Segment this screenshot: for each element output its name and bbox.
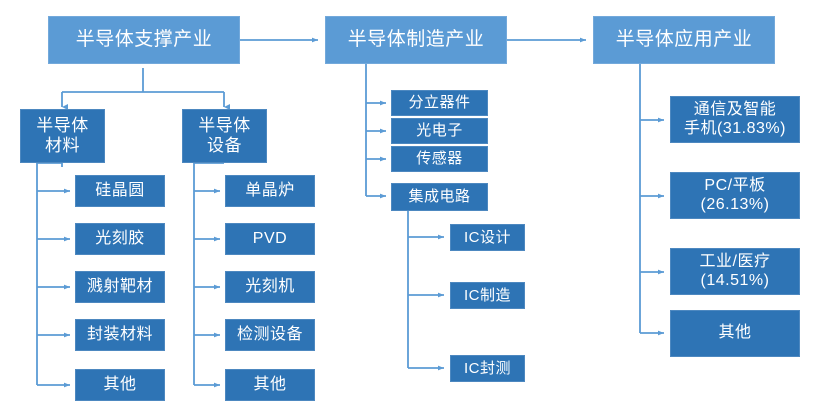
node-label: IC封测	[462, 360, 513, 378]
node-label: 溅射靶材	[85, 278, 155, 297]
node-label: 光刻胶	[93, 230, 147, 249]
node-ic-manufacturing[interactable]: IC制造	[450, 282, 525, 309]
node-equipment-pvd[interactable]: PVD	[225, 223, 315, 255]
node-manufacturing-optoelectronics[interactable]: 光电子	[391, 118, 488, 144]
node-equipment-crystal-furnace[interactable]: 单晶炉	[225, 175, 315, 207]
node-label: 半导体应用产业	[614, 29, 755, 51]
node-ic-design[interactable]: IC设计	[450, 224, 525, 251]
node-label: 半导体支撑产业	[74, 29, 215, 51]
node-equipment-inspection-equipment[interactable]: 检测设备	[225, 319, 315, 351]
node-label: 其他	[716, 324, 753, 343]
node-label: 硅晶圆	[93, 182, 147, 201]
node-label: 分立器件	[406, 94, 472, 112]
node-application-communication-smartphone[interactable]: 通信及智能 手机(31.83%)	[670, 96, 800, 143]
node-material-photoresist[interactable]: 光刻胶	[75, 223, 165, 255]
node-equipment-header[interactable]: 半导体 设备	[182, 109, 267, 163]
node-label: 其他	[101, 376, 138, 395]
node-label: 半导体 设备	[196, 116, 253, 156]
node-equipment-lithography-machine[interactable]: 光刻机	[225, 271, 315, 303]
node-manufacturing-sensor[interactable]: 传感器	[391, 146, 488, 172]
node-label: 检测设备	[235, 326, 305, 345]
semiconductor-industry-chain-diagram: 半导体支撑产业 半导体 材料 半导体 设备 硅晶圆 光刻胶 溅射靶材 封装材料 …	[0, 0, 813, 407]
node-equipment-other[interactable]: 其他	[225, 369, 315, 401]
node-support-header[interactable]: 半导体支撑产业	[48, 16, 240, 64]
node-label: 集成电路	[406, 188, 472, 206]
node-label: 传感器	[414, 150, 465, 168]
node-label: 通信及智能 手机(31.83%)	[682, 101, 788, 139]
node-manufacturing-integrated-circuit[interactable]: 集成电路	[391, 183, 488, 211]
node-application-other[interactable]: 其他	[670, 310, 800, 357]
node-application-industrial-medical[interactable]: 工业/医疗 (14.51%)	[670, 248, 800, 295]
node-material-other[interactable]: 其他	[75, 369, 165, 401]
node-label: 光刻机	[243, 278, 297, 297]
node-label: IC制造	[462, 287, 513, 305]
node-material-sputtering-target[interactable]: 溅射靶材	[75, 271, 165, 303]
node-label: 半导体制造产业	[346, 29, 487, 51]
node-label: PVD	[251, 230, 289, 249]
node-material-silicon-wafer[interactable]: 硅晶圆	[75, 175, 165, 207]
node-label: 封装材料	[85, 326, 155, 345]
node-application-pc-tablet[interactable]: PC/平板 (26.13%)	[670, 172, 800, 219]
node-material-packaging-material[interactable]: 封装材料	[75, 319, 165, 351]
node-label: IC设计	[462, 229, 513, 247]
node-materials-header[interactable]: 半导体 材料	[20, 109, 105, 163]
node-label: 其他	[251, 376, 288, 395]
node-ic-packaging-testing[interactable]: IC封测	[450, 355, 525, 382]
node-label: 工业/医疗 (14.51%)	[698, 253, 773, 291]
node-label: 半导体 材料	[34, 116, 91, 156]
node-label: 单晶炉	[243, 182, 297, 201]
node-label: PC/平板 (26.13%)	[699, 177, 772, 215]
node-label: 光电子	[414, 122, 465, 140]
node-application-header[interactable]: 半导体应用产业	[593, 16, 775, 64]
node-manufacturing-discrete-device[interactable]: 分立器件	[391, 90, 488, 116]
node-manufacturing-header[interactable]: 半导体制造产业	[325, 16, 507, 64]
